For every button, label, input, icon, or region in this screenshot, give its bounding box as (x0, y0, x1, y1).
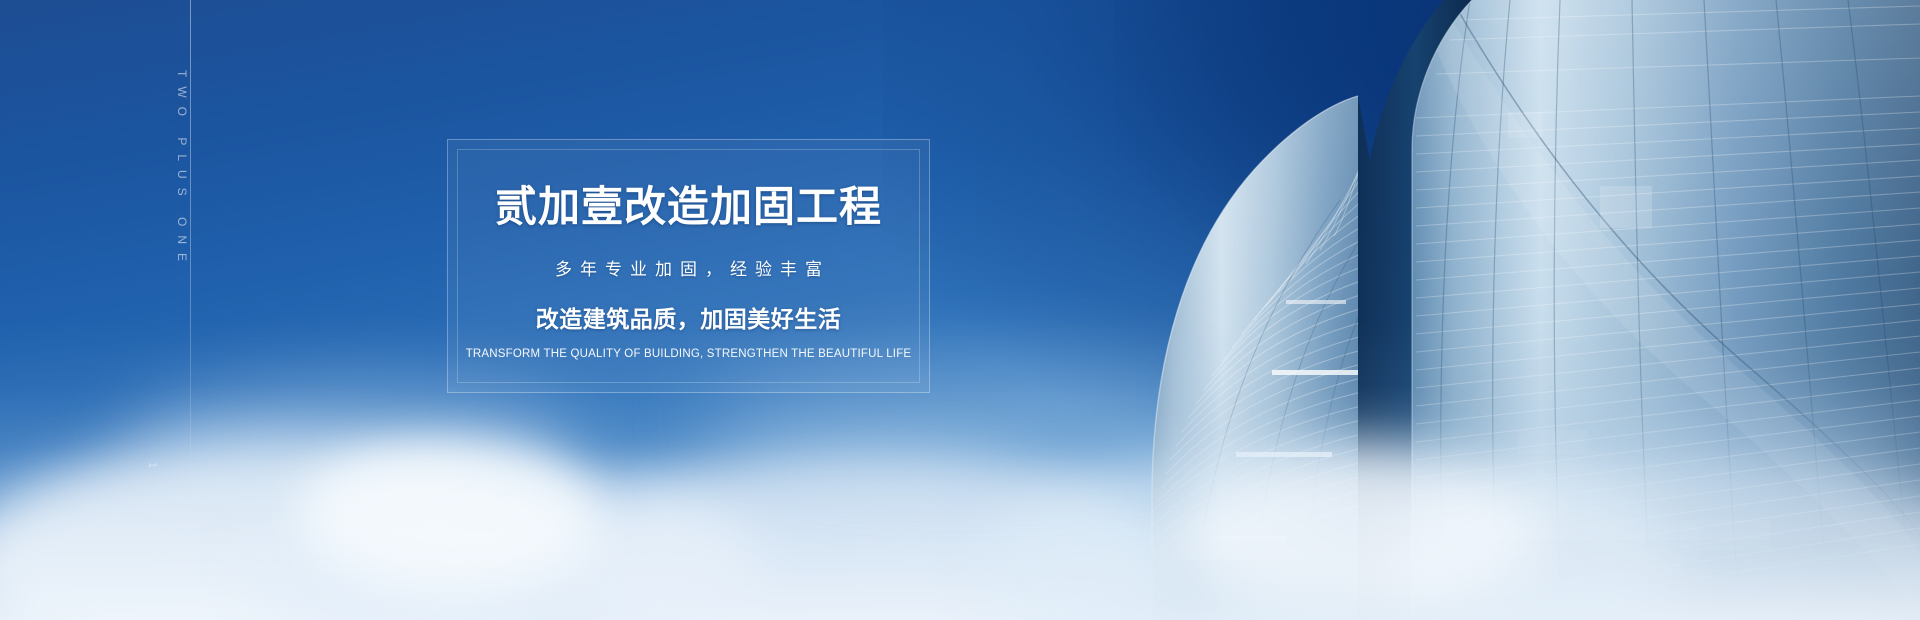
brand-vertical-text: TWO PLUS ONE (175, 70, 189, 270)
cloud-layer (0, 320, 1920, 620)
hero-slogan: 改造建筑品质，加固美好生活 (536, 300, 842, 334)
brand-slide-number: 1 (146, 462, 158, 470)
hero-banner: TWO PLUS ONE 1 贰加壹改造加固工程 多年专业加固，经验丰富 改造建… (0, 0, 1920, 620)
hero-subline: 多年专业加固，经验丰富 (547, 255, 830, 280)
cloud-puff (300, 440, 600, 590)
brand-divider-line (190, 0, 191, 490)
hero-text-panel-inner: 贰加壹改造加固工程 多年专业加固，经验丰富 改造建筑品质，加固美好生活 TRAN… (457, 149, 920, 383)
cloud-puff (1180, 460, 1540, 610)
hero-slogan-english: TRANSFORM THE QUALITY OF BUILDING, STREN… (466, 348, 912, 360)
hero-headline: 贰加壹改造加固工程 (495, 186, 882, 228)
hero-text-panel: 贰加壹改造加固工程 多年专业加固，经验丰富 改造建筑品质，加固美好生活 TRAN… (447, 139, 930, 393)
cloud-puff (1500, 390, 1920, 510)
